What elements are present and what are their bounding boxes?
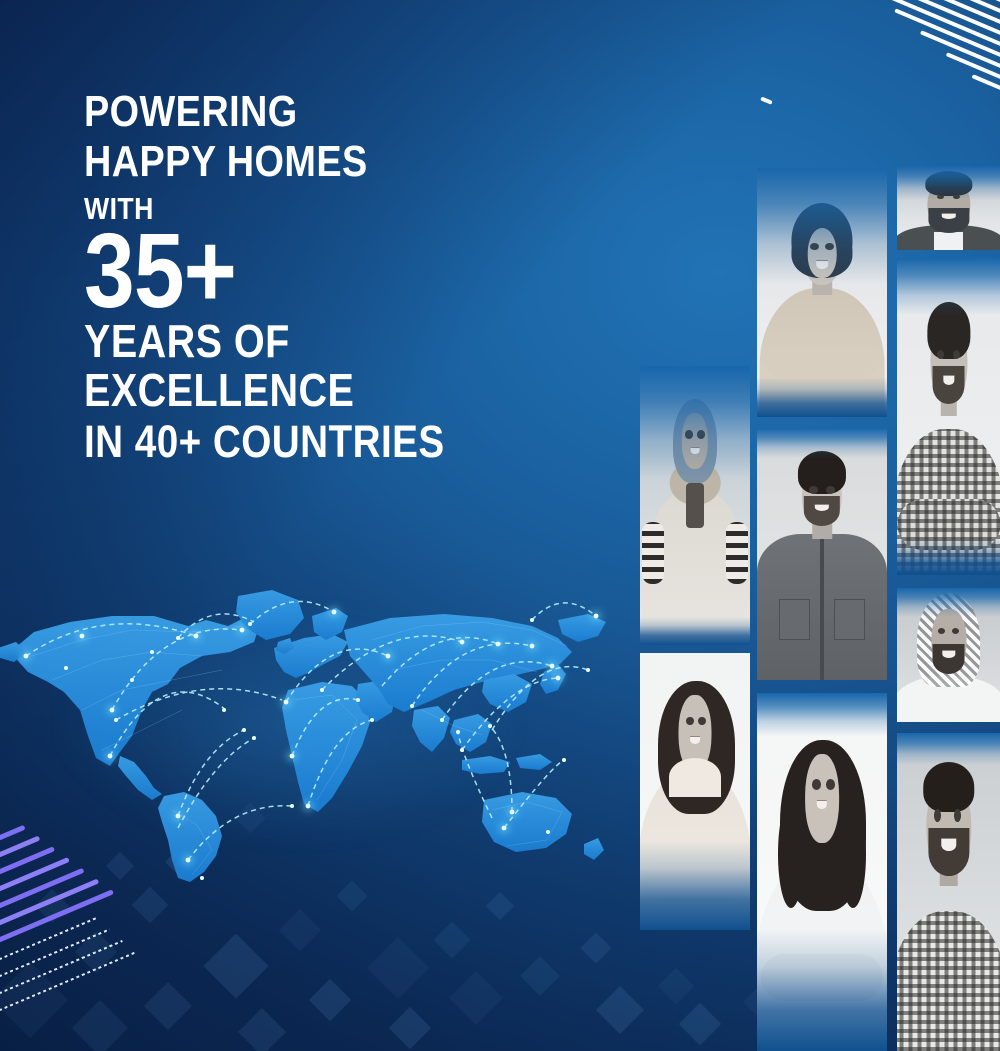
photo-fade-top	[897, 588, 1000, 617]
photo-fade-top	[897, 733, 1000, 765]
stripe-tip	[760, 96, 773, 104]
photo-hoodie-woman	[640, 653, 750, 930]
photo-fade-bottom	[640, 841, 750, 930]
headline-line-1: POWERING	[84, 92, 531, 132]
photo-ghutra-man	[897, 588, 1000, 722]
photo-curly-hair-woman	[757, 168, 887, 417]
photo-fade-top	[757, 168, 887, 283]
photo-fade-bottom	[897, 537, 1000, 575]
photo-denim-shirt-man	[757, 428, 887, 680]
countries-suffix: COUNTRIES	[202, 416, 445, 467]
photo-fade-bottom	[757, 377, 887, 417]
photo-white-shirt-woman	[757, 693, 887, 1051]
headline-line-7: IN 40+ COUNTRIES	[84, 421, 531, 462]
photo-fade-top	[757, 428, 887, 458]
headline-line-5: YEARS OF	[84, 320, 531, 362]
stat-years: 35+	[84, 229, 531, 314]
promotional-banner: POWERING HAPPY HOMES WITH 35+ YEARS OF E…	[0, 0, 1000, 1051]
diagonal-stripes-bottom-left	[0, 811, 190, 1051]
headline-line-6: EXCELLENCE	[84, 369, 531, 411]
photo-hijab-woman	[640, 366, 750, 645]
photo-gingham-shirt-man	[897, 733, 1000, 1051]
headline-block: POWERING HAPPY HOMES WITH 35+ YEARS OF E…	[84, 92, 604, 462]
photo-fade-top	[897, 166, 1000, 200]
photo-fade-top	[897, 258, 1000, 315]
photo-bearded-man-top	[897, 166, 1000, 250]
headline-line-2: HAPPY HOMES	[84, 142, 531, 182]
photo-checked-shirt-man	[897, 258, 1000, 575]
photo-fade-bottom	[757, 929, 887, 1051]
diagonal-stripes-white	[710, 0, 1000, 120]
photo-fade-top	[757, 693, 887, 736]
photo-fade-top	[640, 366, 750, 478]
countries-prefix: IN	[84, 416, 135, 467]
photo-fade-bottom	[640, 617, 750, 645]
stat-countries: 40+	[135, 416, 202, 467]
